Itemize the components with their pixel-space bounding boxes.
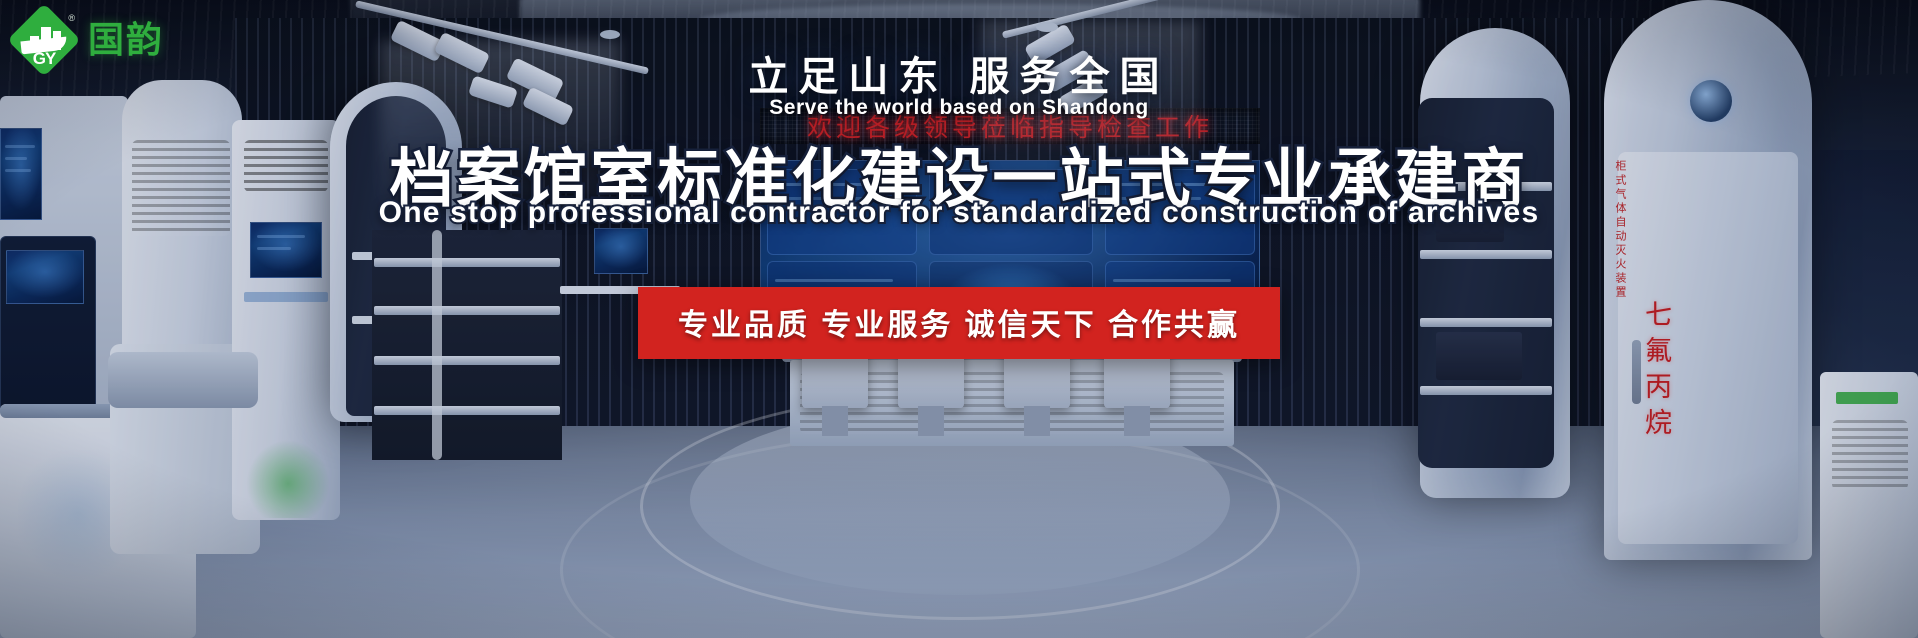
shelf-plank (1420, 250, 1552, 259)
logo-monogram: GY (12, 49, 76, 69)
left-mobile-cart (108, 352, 258, 408)
screen-glow (251, 223, 321, 277)
screen-line (775, 279, 893, 282)
shelf-plank (374, 258, 560, 267)
right-equipment-logo (1836, 392, 1898, 404)
left-wall-monitor (594, 228, 648, 274)
registered-mark: ® (68, 13, 75, 23)
screen-line (257, 247, 291, 250)
right-equipment-unit (1820, 372, 1918, 638)
screen-line (1113, 279, 1231, 282)
shelf-plank (374, 406, 560, 415)
dehumidifier-green-decal (240, 432, 336, 518)
hero-headline-cn: 立足山东 服务全国 (0, 44, 1918, 102)
right-equipment-vents (1832, 420, 1908, 490)
screen-glow (595, 229, 647, 273)
brand-name: 国韵 (88, 22, 164, 58)
hero-subtitle-en: One stop professional contractor for sta… (0, 196, 1918, 230)
hero-banner: 欢迎各级领导莅临指导检查工作 (0, 0, 1918, 638)
shelf-plank (1420, 386, 1552, 395)
chair-base (822, 406, 848, 436)
smoke-detector (600, 30, 620, 39)
screen-line (257, 235, 305, 238)
hero-headline-en: Serve the world based on Shandong (0, 96, 1918, 120)
chair-base (918, 406, 944, 436)
dehumidifier-screen (250, 222, 322, 278)
gy-diamond-building-logo-icon: GY ® (12, 8, 76, 72)
chair-base (1124, 406, 1150, 436)
cta-container: 专业品质 专业服务 诚信天下 合作共赢 (0, 287, 1918, 359)
smoke-detector (1036, 22, 1058, 32)
brand-logo[interactable]: GY ® 国韵 (12, 8, 164, 72)
cta-slogan-button[interactable]: 专业品质 专业服务 诚信天下 合作共赢 (638, 287, 1280, 359)
chair-base (1024, 406, 1050, 436)
